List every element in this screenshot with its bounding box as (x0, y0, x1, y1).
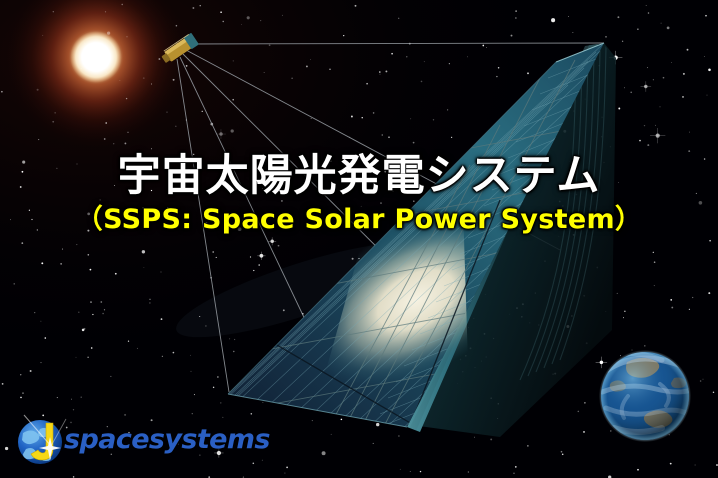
jspacesystems-logo: spacesystems (10, 408, 270, 470)
title-slide: 宇宙太陽光発電システム （SSPS: Space Solar Power Sys… (0, 0, 718, 478)
logo-wordmark: spacesystems (64, 424, 270, 455)
earth-atmosphere (599, 350, 691, 442)
earth (0, 0, 718, 478)
logo-globe-icon (10, 409, 70, 469)
